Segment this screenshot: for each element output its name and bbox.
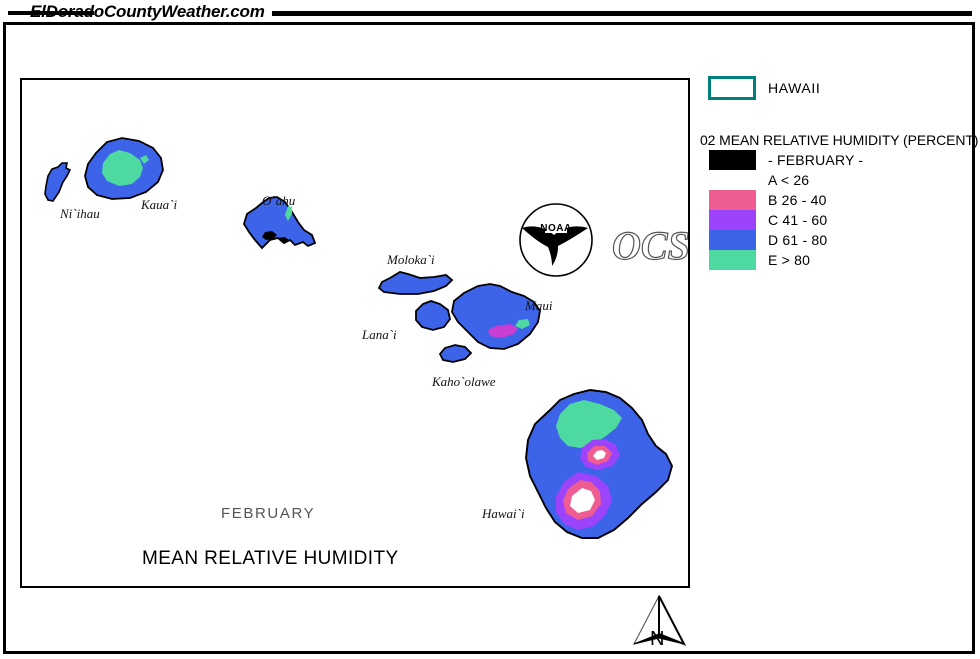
- legend-swatch-b: [709, 190, 756, 210]
- island-molokai: [379, 272, 452, 294]
- island-label-kahoolawe: Kaho`olawe: [432, 374, 496, 390]
- map-caption-month: FEBRUARY: [221, 505, 315, 522]
- legend-swatch-month: [709, 150, 756, 170]
- legend-region-row: HAWAII: [708, 76, 820, 100]
- island-lanai: [416, 301, 450, 330]
- svg-text:OCS: OCS: [612, 223, 690, 268]
- ocs-wordmark: OCS: [608, 222, 690, 270]
- legend-row-c: C 41 - 60: [709, 210, 863, 230]
- map-caption-title: MEAN RELATIVE HUMIDITY: [142, 548, 399, 570]
- island-maui: [452, 284, 540, 349]
- legend-row-month: - FEBRUARY -: [709, 150, 863, 170]
- legend-label-month: - FEBRUARY -: [768, 152, 863, 168]
- noaa-logo-icon: NOAA: [518, 202, 594, 278]
- hawaii-islands-map: [22, 80, 688, 586]
- island-hawaii: [526, 390, 672, 538]
- island-label-kauai: Kaua`i: [141, 197, 177, 213]
- legend-swatch-c: [709, 210, 756, 230]
- island-kauai: [85, 138, 163, 199]
- svg-text:NOAA: NOAA: [540, 223, 571, 234]
- island-label-maui: Maui: [525, 298, 552, 314]
- island-label-molokai: Moloka`i: [387, 252, 435, 268]
- header-rule-right: [272, 11, 972, 16]
- legend-row-a: A < 26: [709, 170, 863, 190]
- legend-label-b: B 26 - 40: [768, 192, 827, 208]
- island-label-niihau: Ni`ihau: [60, 206, 100, 222]
- legend-row-b: B 26 - 40: [709, 190, 863, 210]
- legend-swatch-e: [709, 250, 756, 270]
- legend-label-d: D 61 - 80: [768, 232, 827, 248]
- legend-label-e: E > 80: [768, 252, 810, 268]
- island-label-hawaii: Hawai`i: [482, 506, 525, 522]
- legend-row-d: D 61 - 80: [709, 230, 863, 250]
- legend-label-c: C 41 - 60: [768, 212, 827, 228]
- legend-class-list: - FEBRUARY - A < 26 B 26 - 40 C 41 - 60 …: [709, 150, 863, 270]
- island-label-lanai: Lana`i: [362, 327, 397, 343]
- island-label-oahu: O`ahu: [262, 193, 295, 209]
- island-niihau: [45, 163, 70, 201]
- legend-title: 02 MEAN RELATIVE HUMIDITY (PERCENT): [700, 132, 978, 148]
- north-label: N: [650, 628, 664, 651]
- legend-swatch-a: [709, 170, 756, 190]
- map-frame: Ni`ihau Kaua`i O`ahu Moloka`i Lana`i Mau…: [20, 78, 690, 588]
- legend-row-e: E > 80: [709, 250, 863, 270]
- legend-region-label: HAWAII: [768, 80, 820, 96]
- island-kahoolawe: [440, 345, 471, 362]
- legend-swatch-d: [709, 230, 756, 250]
- legend-region-swatch: [708, 76, 756, 100]
- legend-label-a: A < 26: [768, 172, 809, 188]
- site-title: ElDoradoCountyWeather.com: [30, 2, 265, 22]
